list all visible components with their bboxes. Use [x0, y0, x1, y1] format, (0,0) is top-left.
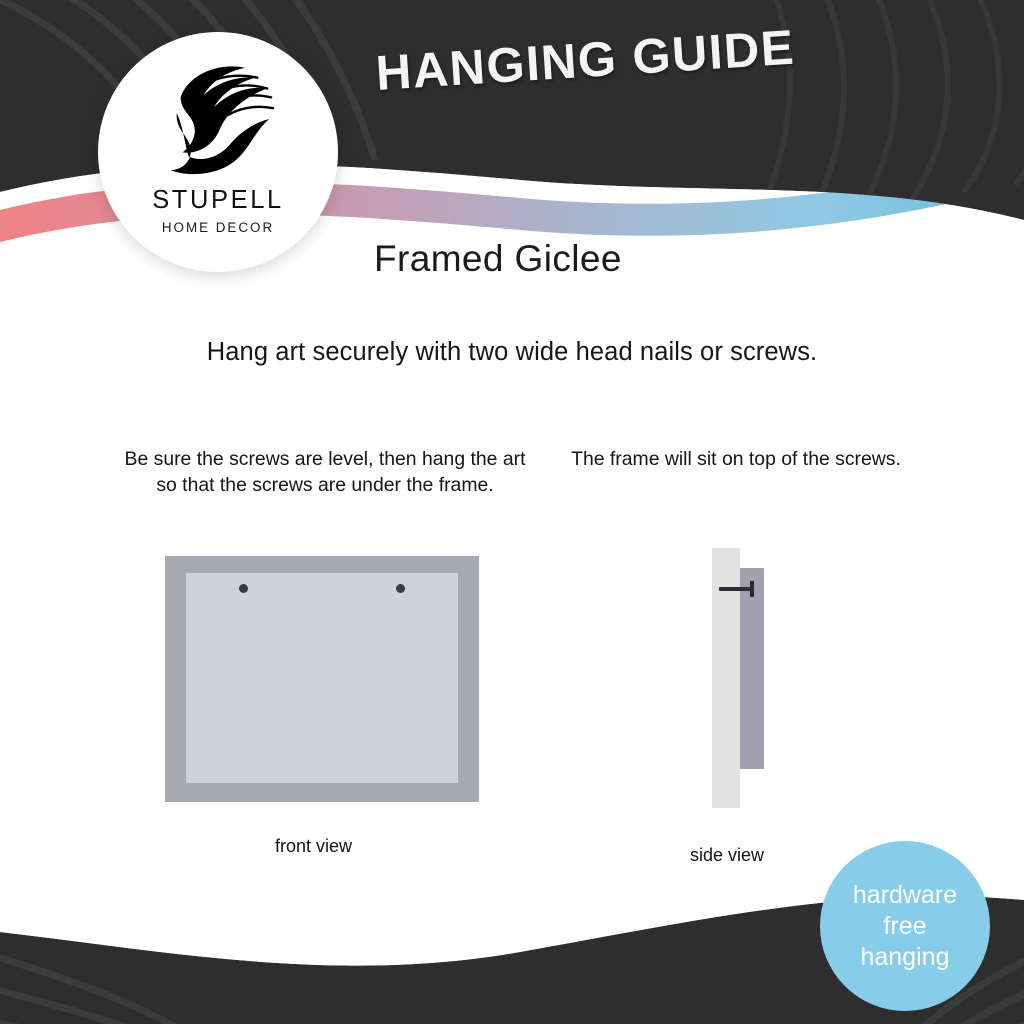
hardware-free-hanging-badge: hardware free hanging: [820, 841, 990, 1011]
badge-line-1: hardware: [853, 880, 957, 911]
front-view-panel: Be sure the screws are level, then hang …: [120, 446, 530, 498]
side-view-caption: side view: [690, 845, 764, 866]
brand-tagline: HOME DECOR: [162, 220, 274, 235]
page-title: HANGING GUIDE: [374, 15, 877, 102]
hanging-guide-page: STUPELL HOME DECOR HANGING GUIDE Framed …: [0, 0, 1024, 1024]
front-view-instruction: Be sure the screws are level, then hang …: [120, 446, 530, 498]
product-type-label: Framed Giclee: [374, 238, 622, 280]
main-instruction-text: Hang art securely with two wide head nai…: [0, 338, 1024, 367]
badge-line-3: hanging: [861, 942, 950, 973]
nail-icon: [719, 587, 753, 591]
screw-hole-left-icon: [239, 584, 248, 593]
front-view-caption: front view: [275, 836, 352, 857]
front-view-frame-inner: [186, 573, 458, 783]
side-view-panel: The frame will sit on top of the screws.: [566, 446, 906, 472]
brand-name: STUPELL: [152, 186, 284, 215]
front-view-frame-diagram: [165, 556, 479, 802]
screw-hole-right-icon: [396, 584, 405, 593]
stupell-swoosh-icon: [159, 58, 277, 180]
side-view-frame-diagram: [740, 568, 764, 769]
nail-head-icon: [750, 581, 754, 597]
brand-logo-badge: STUPELL HOME DECOR: [98, 32, 338, 272]
badge-line-2: free: [883, 911, 926, 942]
side-view-instruction: The frame will sit on top of the screws.: [566, 446, 906, 472]
